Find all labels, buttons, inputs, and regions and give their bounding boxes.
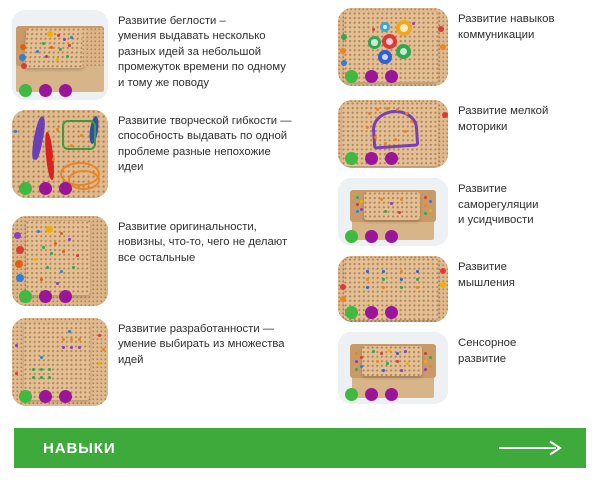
arrow-right-icon[interactable] <box>498 439 564 457</box>
list-item-caption: Развитие беглости – умения выдавать неск… <box>108 10 328 91</box>
list-item: Развитие саморегуляции и усидчивости <box>338 178 594 246</box>
dot-purple <box>365 306 378 319</box>
list-item-caption: Развитие мелкой моторики <box>448 100 594 135</box>
thumbnail-wrapper <box>12 318 108 406</box>
list-item: Сенсорное развитие <box>338 332 594 404</box>
dot-group <box>19 390 72 403</box>
dot-purple <box>365 152 378 165</box>
pegboard-with-sorted-peg-groups-photo <box>12 318 108 406</box>
list-item: Развитие беглости – умения выдавать неск… <box>12 10 328 100</box>
list-item: Развитие мышления <box>338 256 594 322</box>
dot-purple <box>385 230 398 243</box>
dot-green <box>19 390 32 403</box>
dot-group <box>345 230 398 243</box>
list-item: Развитие творческой гибкости — способнос… <box>12 110 328 198</box>
list-item: Развитие оригинальности, новизны, что-то… <box>12 216 328 306</box>
list-item-caption: Развитие творческой гибкости — способнос… <box>108 110 328 176</box>
thumbnail-wrapper <box>338 256 448 322</box>
dot-green <box>345 70 358 83</box>
thumbnail-wrapper <box>338 332 448 404</box>
dot-purple <box>59 182 72 195</box>
pegboard-with-colored-lacing-cords-photo <box>12 110 108 198</box>
dot-green <box>345 306 358 319</box>
dot-purple <box>385 152 398 165</box>
list-item: Развитие мелкой моторики <box>338 100 594 168</box>
dot-green <box>345 152 358 165</box>
thumbnail-wrapper <box>12 10 108 100</box>
list-item-caption: Развитие мышления <box>448 256 594 291</box>
skills-banner[interactable]: НАВЫКИ <box>14 428 586 468</box>
dot-green <box>345 388 358 401</box>
dot-purple <box>59 390 72 403</box>
slide-root: Развитие беглости – умения выдавать неск… <box>0 0 600 480</box>
thumbnail-wrapper <box>12 110 108 198</box>
dot-purple <box>385 70 398 83</box>
list-item: Развитие разработанности — умение выбира… <box>12 318 328 406</box>
skills-banner-label: НАВЫКИ <box>43 440 116 457</box>
dot-group <box>19 84 72 97</box>
dot-purple <box>365 70 378 83</box>
dot-group <box>345 70 398 83</box>
pegboard-with-peg-rows-pattern-photo <box>338 256 448 322</box>
list-item-caption: Развитие разработанности — умение выбира… <box>108 318 328 368</box>
list-item-caption: Развитие оригинальности, новизны, что-то… <box>108 216 328 266</box>
dot-purple <box>39 182 52 195</box>
dot-green <box>345 230 358 243</box>
dot-purple <box>385 306 398 319</box>
dot-group <box>345 152 398 165</box>
dot-purple <box>365 388 378 401</box>
dot-group <box>345 306 398 319</box>
list-item-caption: Сенсорное развитие <box>448 332 594 367</box>
wooden-pegboard-table-photo <box>338 178 448 246</box>
list-item-caption: Развитие навыков коммуникации <box>448 8 594 43</box>
pegboard-tray-with-colored-pegs-photo <box>12 10 108 100</box>
dot-purple <box>39 84 52 97</box>
pegboard-with-flower-pattern-photo <box>12 216 108 306</box>
dot-group <box>19 290 72 303</box>
dot-group <box>345 388 398 401</box>
pegboard-with-colored-gears-photo <box>338 8 448 86</box>
dot-purple <box>59 84 72 97</box>
thumbnail-wrapper <box>338 100 448 168</box>
dot-green <box>19 290 32 303</box>
dot-purple <box>39 390 52 403</box>
thumbnail-wrapper <box>338 178 448 246</box>
dot-purple <box>39 290 52 303</box>
dot-purple <box>385 388 398 401</box>
thumbnail-wrapper <box>12 216 108 306</box>
list-item: Развитие навыков коммуникации <box>338 8 594 86</box>
dot-purple <box>365 230 378 243</box>
dot-group <box>19 182 72 195</box>
dot-green <box>19 84 32 97</box>
thumbnail-wrapper <box>338 8 448 86</box>
list-item-caption: Развитие саморегуляции и усидчивости <box>448 178 594 229</box>
pegboard-with-heart-lacing-photo <box>338 100 448 168</box>
dot-purple <box>59 290 72 303</box>
pegboard-table-with-scattered-pegs-photo <box>338 332 448 404</box>
dot-green <box>19 182 32 195</box>
